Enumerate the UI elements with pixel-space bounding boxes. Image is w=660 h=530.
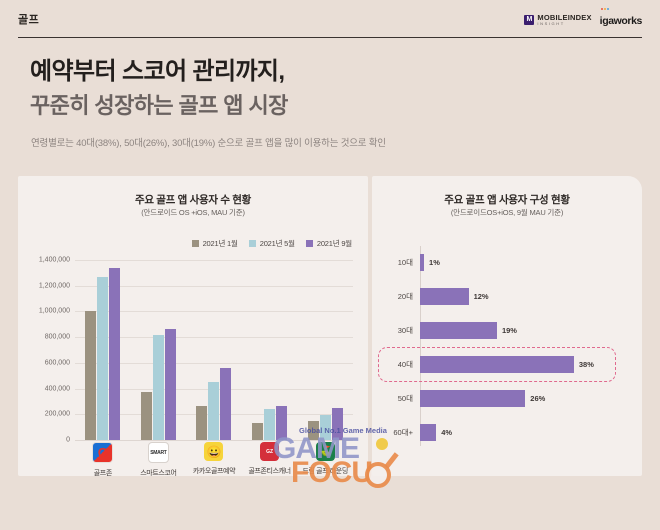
y-axis-tick-label: 1,200,000 [39,282,70,289]
horizontal-bar-row: 20대12% [420,288,489,305]
age-group-label: 60대+ [393,427,413,438]
left-chart-legend: 2021년 1월2021년 5월2021년 9월 [192,238,352,249]
bar [196,406,207,440]
x-axis-category: SMART스마트스코어 [131,442,187,478]
y-axis-tick-label: 1,400,000 [39,257,70,264]
bar-value-label: 1% [429,258,440,267]
igaworks-dots-icon [601,8,609,10]
age-group-label: 30대 [398,325,413,336]
y-axis-tick-label: 1,000,000 [39,308,70,315]
bar-value-label: 38% [579,360,594,369]
y-axis-tick-label: 800,000 [45,334,70,341]
x-axis-category: 😀카카오골프예약 [186,442,242,478]
brand-logos: M MOBILEINDEX INSIGHT igaworks [524,11,642,29]
bar-group [308,260,343,440]
bar [141,392,152,440]
mobileindex-mark-icon: M [524,15,534,25]
bar-value-label: 12% [474,292,489,301]
bar-value-label: 19% [502,326,517,335]
horizontal-bar-row: 60대+4% [420,424,452,441]
headline-line-1: 예약부터 스코어 관리까지, [30,51,284,86]
bar [420,424,436,441]
bar [208,382,219,440]
age-group-label: 40대 [398,359,413,370]
igaworks-name: igaworks [600,15,642,27]
headline-subtitle: 연령별로는 40대(38%), 50대(26%), 30대(19%) 순으로 골… [31,135,386,149]
headline-line-2: 꾸준히 성장하는 골프 앱 시장 [30,88,288,120]
mobileindex-tagline: INSIGHT [537,22,591,26]
chart-panel-users-count: 주요 골프 앱 사용자 수 현황 (안드로이드 OS +iOS, MAU 기준)… [18,176,368,476]
bar [320,415,331,440]
golfzon-tscanner-app-icon: GZ [260,442,279,461]
right-chart-title: 주요 골프 앱 사용자 구성 현황 [372,192,642,207]
left-chart-plot: 0200,000400,000600,000800,0001,000,0001,… [75,260,353,530]
mobileindex-name: MOBILEINDEX [537,14,591,22]
horizontal-bar-row: 40대38% [420,356,594,373]
chart-panel-users-composition: 주요 골프 앱 사용자 구성 현황 (안드로이드OS+iOS, 9월 MAU 기… [372,176,642,476]
kakao-golf-app-icon: 😀 [204,442,223,461]
horizontal-bar-row: 10대1% [420,254,440,271]
y-axis-tick-label: 200,000 [45,411,70,418]
smartscore-app-icon: SMART [148,442,169,463]
left-chart-baseline [75,440,353,441]
bar [153,335,164,440]
bar [97,277,108,440]
legend-swatch-icon [192,240,199,247]
legend-item-2: 2021년 9월 [306,238,352,249]
x-axis-label: 드림 골프 라운딩 [302,466,347,476]
bar [165,329,176,440]
x-axis-category: GZ골프존티스캐너 [242,442,298,478]
horizontal-bar-row: 30대19% [420,322,517,339]
bar-value-label: 26% [530,394,545,403]
legend-label: 2021년 5월 [260,238,295,249]
bar-group [85,260,120,440]
bar-value-label: 4% [441,428,452,437]
header-divider [18,37,642,38]
y-axis-tick-label: 0 [66,437,70,444]
age-group-label: 10대 [398,257,413,268]
legend-item-0: 2021년 1월 [192,238,238,249]
legend-label: 2021년 1월 [203,238,238,249]
age-group-label: 50대 [398,393,413,404]
igaworks-logo: igaworks [600,11,642,29]
x-axis-category: ⛳드림 골프 라운딩 [297,442,353,478]
right-chart-axis [420,246,421,446]
bar [220,368,231,440]
bar [85,311,96,440]
x-axis-label: 스마트스코어 [140,468,176,478]
bar [252,423,263,440]
bar [420,288,469,305]
bar-group [196,260,231,440]
horizontal-bar-row: 50대26% [420,390,545,407]
bar [420,390,525,407]
legend-item-1: 2021년 5월 [249,238,295,249]
left-chart-subtitle: (안드로이드 OS +iOS, MAU 기준) [18,207,368,218]
page-header: 골프 M MOBILEINDEX INSIGHT igaworks [0,0,660,38]
bar [264,409,275,441]
y-axis-tick-label: 600,000 [45,359,70,366]
left-chart-bar-groups [75,260,353,440]
bar [420,356,574,373]
bar [308,421,319,440]
golfzon-app-icon: G [92,442,113,463]
x-axis-label: 골프존 [94,468,112,478]
mobileindex-logo: M MOBILEINDEX INSIGHT [524,14,591,27]
x-axis-category: G골프존 [75,442,131,478]
left-chart-title: 주요 골프 앱 사용자 수 현황 [18,192,368,207]
dream-golf-app-icon: ⛳ [316,442,335,461]
right-chart-subtitle: (안드로이드OS+iOS, 9월 MAU 기준) [372,207,642,218]
left-chart-x-axis-labels: G골프존SMART스마트스코어😀카카오골프예약GZ골프존티스캐너⛳드림 골프 라… [75,442,353,478]
age-group-label: 20대 [398,291,413,302]
legend-label: 2021년 9월 [317,238,352,249]
category-label: 골프 [18,11,39,27]
y-axis-tick-label: 400,000 [45,385,70,392]
bar-group [252,260,287,440]
bar [420,322,497,339]
x-axis-label: 골프존티스캐너 [248,466,290,476]
legend-swatch-icon [249,240,256,247]
x-axis-label: 카카오골프예약 [193,466,235,476]
legend-swatch-icon [306,240,313,247]
bar [276,406,287,440]
bar [332,408,343,440]
bar-group [141,260,176,440]
bar [109,268,120,440]
right-chart-plot: 10대1%20대12%30대19%40대38%50대26%60대+4% [420,250,620,450]
bar [420,254,424,271]
